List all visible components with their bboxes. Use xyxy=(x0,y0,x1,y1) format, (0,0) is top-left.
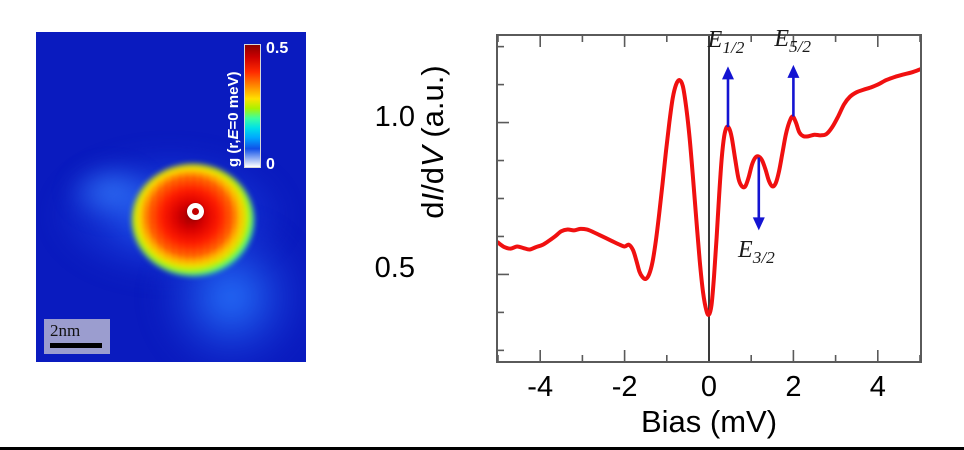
colorbar-label: g (r,E=0 meV) xyxy=(226,44,241,194)
stm-conductance-map-panel: g (r,E=0 meV) 0.5 0 2nm xyxy=(36,32,306,362)
colorbar: g (r,E=0 meV) 0.5 0 xyxy=(226,44,298,194)
peak-label-E-one-half: E1/2 xyxy=(708,27,745,58)
colorbar-label-suffix: =0 meV) xyxy=(225,71,242,129)
y-axis-label: dI/dV (a.u.) xyxy=(415,17,451,267)
x-tick-label: 2 xyxy=(767,371,819,404)
figure-root: g (r,E=0 meV) 0.5 0 2nm dI/dV (a.u.) Bia… xyxy=(0,0,964,450)
annotation-arrow-E-three-half xyxy=(753,157,765,230)
peak-label-subscript: 3/2 xyxy=(753,247,775,266)
ylabel-prefix: d xyxy=(415,201,450,218)
x-axis-label: Bias (mV) xyxy=(496,404,922,440)
y-tick-label: 1.0 xyxy=(375,101,415,134)
annotation-arrow-E-one-half xyxy=(722,66,734,127)
peak-label-E-three-half: E3/2 xyxy=(738,237,775,268)
colorbar-label-prefix: g (r, xyxy=(225,139,242,167)
peak-label-subscript: 5/2 xyxy=(789,37,811,56)
didv-spectrum-panel: dI/dV (a.u.) Bias (mV) -4-20240.51.0 E1/… xyxy=(400,20,945,440)
colorbar-label-italic-E: E xyxy=(225,129,242,139)
colorbar-tick-labels: 0.5 0 xyxy=(264,44,298,168)
annotation-arrow-E-five-half xyxy=(787,65,799,117)
x-tick-label: 0 xyxy=(683,371,735,404)
spectrum-plot xyxy=(498,36,920,361)
scale-bar-label: 2nm xyxy=(50,322,102,340)
scale-bar-line xyxy=(50,343,102,348)
impurity-site-marker xyxy=(187,203,204,220)
colorbar-min-label: 0 xyxy=(266,156,275,174)
scale-bar: 2nm xyxy=(44,319,110,354)
peak-label-E-five-half: E5/2 xyxy=(774,26,811,57)
colorbar-max-label: 0.5 xyxy=(266,40,288,58)
x-tick-label: -2 xyxy=(599,371,651,404)
peak-label-base: E xyxy=(738,237,753,263)
ylabel-mid: /d xyxy=(415,167,450,193)
x-tick-label: 4 xyxy=(852,371,904,404)
ylabel-italic-V: V xyxy=(415,146,450,167)
conductance-map-image: g (r,E=0 meV) 0.5 0 2nm xyxy=(36,32,306,362)
peak-label-base: E xyxy=(774,26,789,52)
ylabel-italic-I: I xyxy=(415,193,450,202)
plot-frame xyxy=(496,34,922,363)
y-tick-label: 0.5 xyxy=(375,252,415,285)
colorbar-gradient xyxy=(244,44,261,168)
x-tick-label: -4 xyxy=(514,371,566,404)
peak-label-base: E xyxy=(708,27,723,53)
ylabel-suffix: (a.u.) xyxy=(415,65,450,146)
peak-label-subscript: 1/2 xyxy=(722,38,744,57)
